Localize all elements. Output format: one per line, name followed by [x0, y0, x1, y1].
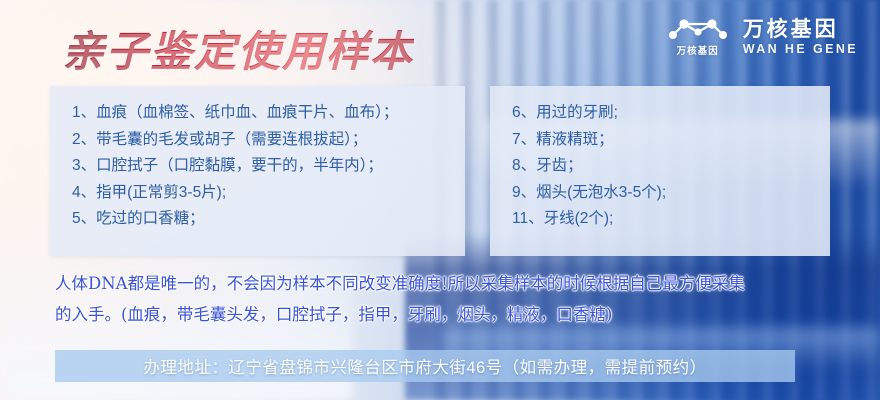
- logo-wordmark: 万核基因 WAN HE GENE: [743, 19, 858, 55]
- list-item: 1、血痕（血棉签、纸巾血、血痕干片、血布）；: [72, 100, 465, 127]
- brand-logo: 万核基因 万核基因 WAN HE GENE: [667, 18, 858, 57]
- poster-canvas: 亲子鉴定使用样本: [0, 0, 880, 400]
- brand-name-cn: 万核基因: [743, 19, 858, 40]
- brand-name-en: WAN HE GENE: [743, 43, 858, 56]
- list-item: 11、牙线(2个);: [512, 206, 830, 233]
- logo-mark: 万核基因: [667, 18, 729, 57]
- list-item: 3、口腔拭子（口腔黏膜，要干的，半年内）；: [72, 153, 465, 180]
- sample-panel-right: 6、用过的牙刷; 7、精液精斑； 8、牙齿； 9、烟头(无泡水3-5个); 11…: [490, 86, 830, 256]
- page-title: 亲子鉴定使用样本: [62, 18, 414, 79]
- sample-list-right: 6、用过的牙刷; 7、精液精斑； 8、牙齿； 9、烟头(无泡水3-5个); 11…: [490, 86, 830, 233]
- molecule-network-icon: [667, 18, 729, 44]
- sample-panel-left: 1、血痕（血棉签、纸巾血、血痕干片、血布）； 2、带毛囊的毛发或胡子（需要连根拔…: [50, 86, 465, 256]
- list-item: 6、用过的牙刷;: [512, 100, 830, 127]
- sample-list-left: 1、血痕（血棉签、纸巾血、血痕干片、血布）； 2、带毛囊的毛发或胡子（需要连根拔…: [50, 86, 465, 233]
- note-line: 人体DNA都是唯一的，不会因为样本不同改变准确度!所以采集样本的时候根据自己最方…: [55, 268, 845, 299]
- note-paragraph: 人体DNA都是唯一的，不会因为样本不同改变准确度!所以采集样本的时候根据自己最方…: [55, 268, 845, 330]
- list-item: 5、吃过的口香糖；: [72, 206, 465, 233]
- logo-mark-caption: 万核基因: [677, 47, 719, 57]
- address-text: 办理地址：辽宁省盘锦市兴隆台区市府大街46号（如需办理，需提前预约）: [143, 354, 706, 378]
- list-item: 7、精液精斑；: [512, 127, 830, 154]
- list-item: 2、带毛囊的毛发或胡子（需要连根拔起）；: [72, 127, 465, 154]
- list-item: 8、牙齿；: [512, 153, 830, 180]
- list-item: 4、指甲(正常剪3-5片);: [72, 180, 465, 207]
- list-item: 9、烟头(无泡水3-5个);: [512, 180, 830, 207]
- address-band: 办理地址：辽宁省盘锦市兴隆台区市府大街46号（如需办理，需提前预约）: [55, 350, 795, 382]
- note-line: 的入手。(血痕，带毛囊头发，口腔拭子，指甲，牙刷，烟头，精液，口香糖): [55, 299, 845, 330]
